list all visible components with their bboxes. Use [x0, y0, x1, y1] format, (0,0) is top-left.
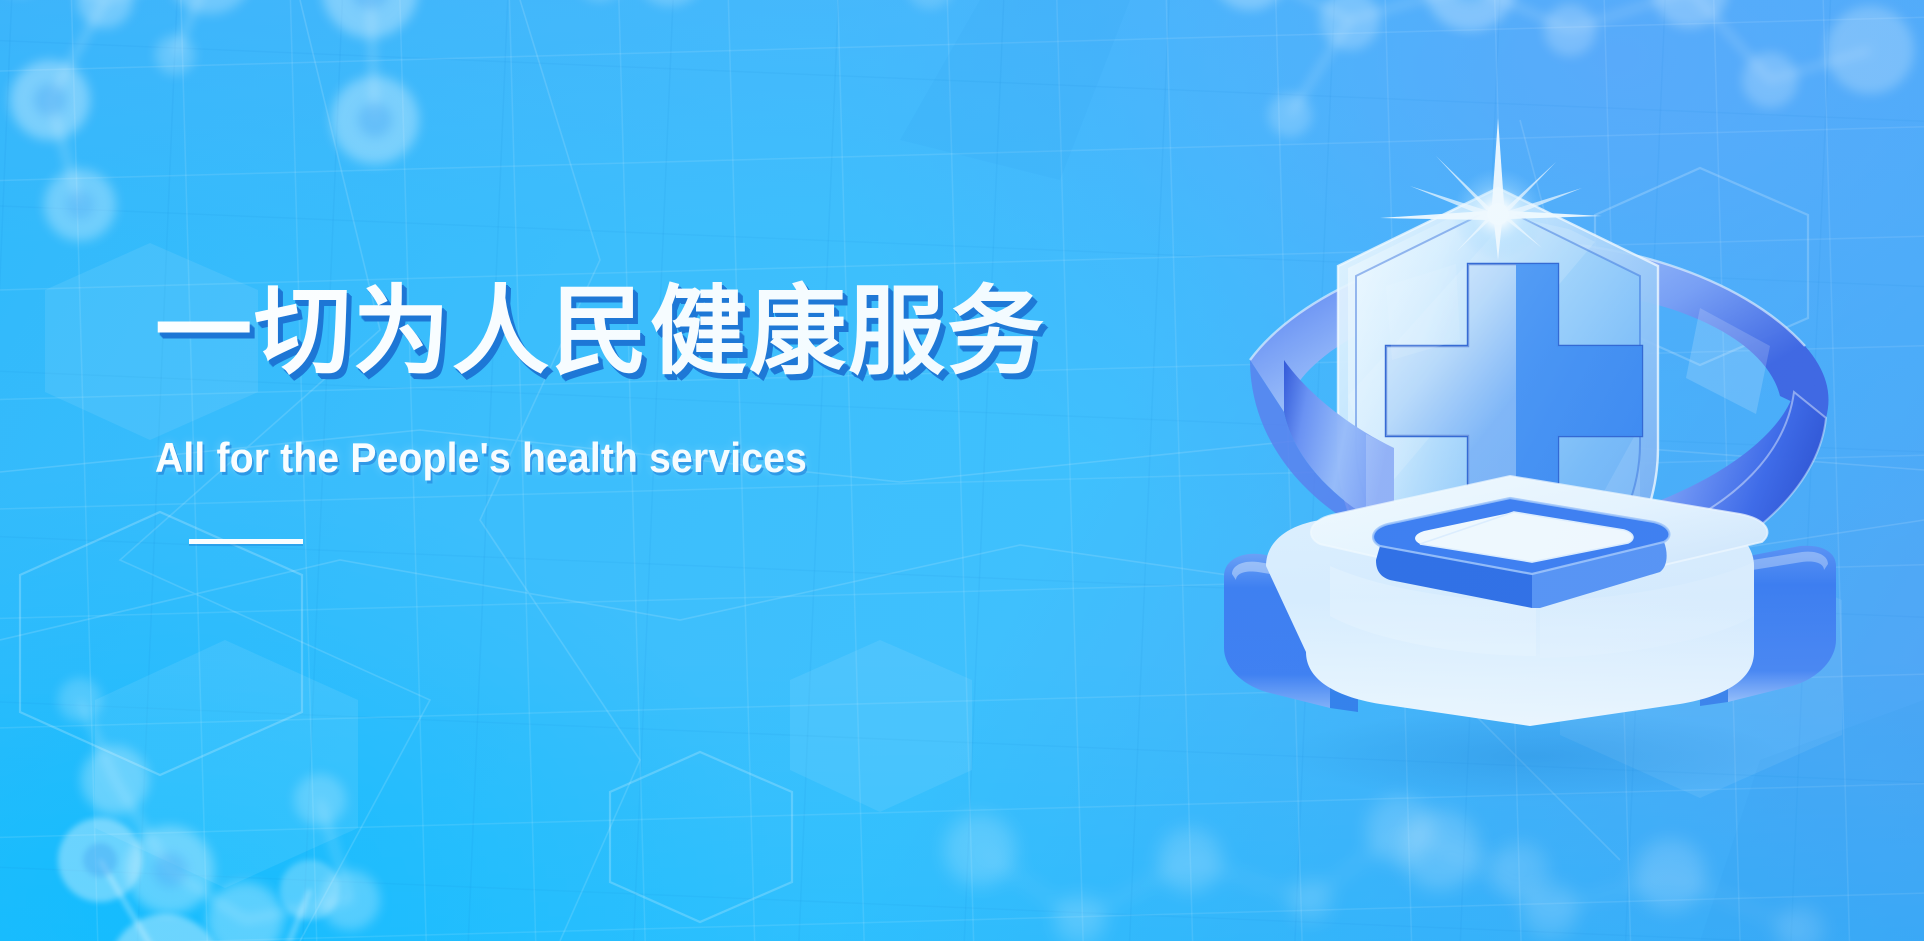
health-banner: 一切为人民健康服务 All for the People's health se…: [0, 0, 1924, 941]
page-subtitle: All for the People's health services: [155, 437, 992, 479]
molecule-icon: [1380, 820, 1924, 941]
molecule-icon: [600, 0, 1020, 170]
molecule-icon: [250, 0, 730, 280]
page-title: 一切为人民健康服务: [155, 283, 1055, 380]
molecule-icon: [40, 670, 600, 941]
headline-block: 一切为人民健康服务 All for the People's health se…: [155, 283, 1055, 544]
medical-shield-illustration: [1180, 96, 1880, 816]
molecule-icon: [0, 930, 590, 941]
decorative-rule: [189, 539, 303, 544]
